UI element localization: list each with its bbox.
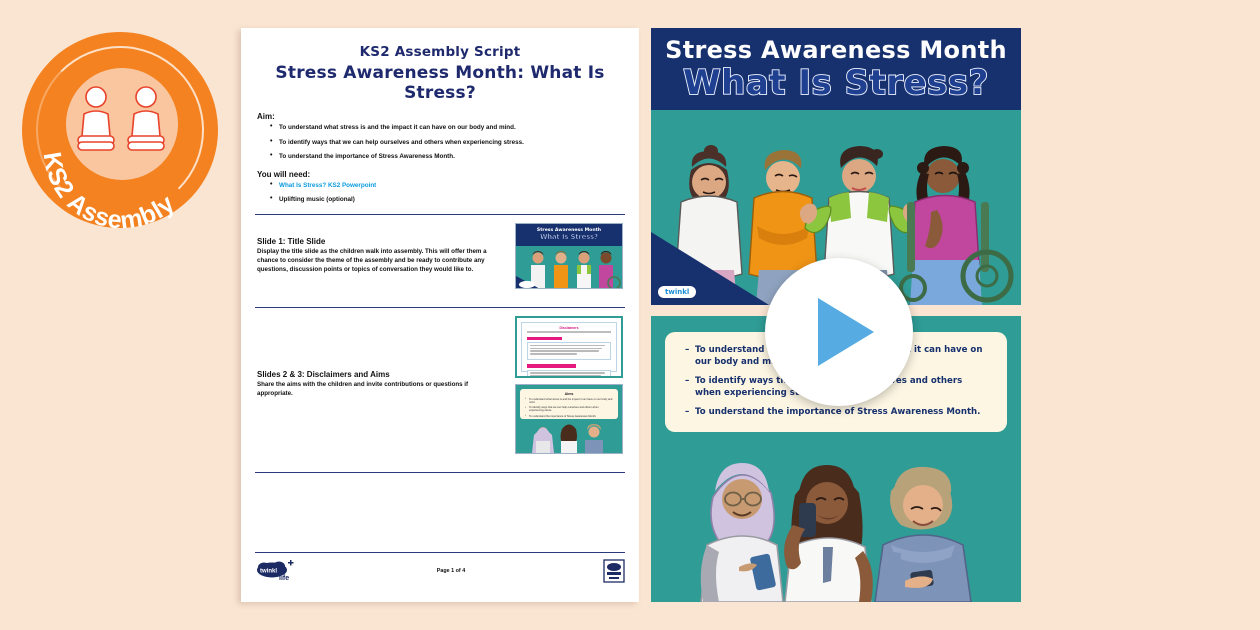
thumbnail-pink-bar <box>527 364 576 367</box>
list-item: To understand the importance of Stress A… <box>685 407 991 419</box>
badge-label-text: KS2 Assembly <box>38 150 181 228</box>
document-body: KS2 Assembly Script Stress Awareness Mon… <box>241 28 639 602</box>
twinkl-life-logo-icon: twinkl life <box>255 560 299 582</box>
thumbnail-aims-heading: Aims <box>525 392 613 396</box>
thumbnail-disclaimers-inner: Disclaimers <box>521 322 617 372</box>
thumbnail-disclaimers-slide[interactable]: Disclaimers <box>515 316 623 378</box>
slide-1-body: Display the title slide as the children … <box>257 248 505 275</box>
slide-1-thumbnails: Stress Awareness Month What Is Stress? <box>515 223 623 289</box>
assembly-script-document[interactable]: KS2 Assembly Script Stress Awareness Mon… <box>241 28 639 602</box>
divider <box>255 472 625 473</box>
thumbnail-text-box <box>527 342 611 360</box>
slides-2-3-description: Slides 2 & 3: Disclaimers and Aims Share… <box>257 370 515 399</box>
list-item: To identify ways that we can help oursel… <box>279 139 625 147</box>
list-item: To understand what stress is and the imp… <box>525 398 613 404</box>
document-footer: twinkl life Page 1 of 4 <box>255 552 625 584</box>
list-item: To understand what stress is and the imp… <box>279 124 625 132</box>
slides-2-3-title: Slides 2 & 3: Disclaimers and Aims <box>257 370 505 379</box>
play-button[interactable] <box>765 258 913 406</box>
slides-2-3-thumbnails: Disclaimers <box>515 316 623 454</box>
svg-text:twinkl: twinkl <box>260 569 277 575</box>
slide-title-line2: What Is Stress? <box>683 66 989 100</box>
slide-1-description: Slide 1: Title Slide Display the title s… <box>257 237 515 275</box>
thumbnail-children-illustration <box>516 246 622 289</box>
you-will-need-heading: You will need: <box>257 170 625 179</box>
slides-2-3-body: Share the aims with the children and inv… <box>257 381 505 399</box>
page-number: Page 1 of 4 <box>437 568 465 574</box>
document-subtitle: KS2 Assembly Script <box>255 44 625 60</box>
svg-text:KS2 Assembly: KS2 Assembly <box>38 150 181 228</box>
document-title: Stress Awareness Month: What Is Stress? <box>255 63 625 103</box>
powerpoint-link[interactable]: What Is Stress? KS2 Powerpoint <box>279 182 625 190</box>
thumbnail-title-slide[interactable]: Stress Awareness Month What Is Stress? <box>515 223 623 289</box>
thumbnail-text-box <box>527 370 611 378</box>
list-item: To identify ways that we can help oursel… <box>525 406 613 412</box>
thumbnail-disclaimers-heading: Disclaimers <box>527 326 611 330</box>
play-triangle-icon <box>818 298 874 366</box>
three-teenagers-with-phones-illustration <box>695 447 977 602</box>
list-item: To understand the importance of Stress A… <box>525 415 613 418</box>
table-row: Slides 2 & 3: Disclaimers and Aims Share… <box>255 308 625 462</box>
slide-title-band: Stress Awareness Month What Is Stress? <box>651 28 1021 110</box>
list-item: Uplifting music (optional) <box>279 196 625 204</box>
thumbnail-aims-card: Aims To understand what stress is and th… <box>520 389 618 419</box>
svg-text:life: life <box>279 575 289 582</box>
aim-list: To understand what stress is and the imp… <box>255 124 625 161</box>
aim-heading: Aim: <box>257 112 625 121</box>
twinkl-stamp-icon <box>603 559 625 583</box>
footer-divider <box>255 552 625 553</box>
table-row: Slide 1: Title Slide Display the title s… <box>255 215 625 297</box>
badge-label: KS2 Assembly <box>22 32 218 228</box>
thumbnail-title-band: Stress Awareness Month What Is Stress? <box>516 224 622 246</box>
ks2-assembly-badge: KS2 Assembly <box>22 32 218 228</box>
twinkl-watermark: twinkl <box>658 286 696 298</box>
thumbnail-title-line2: What Is Stress? <box>540 234 598 241</box>
slide-1-title: Slide 1: Title Slide <box>257 237 505 246</box>
thumbnail-teens-illustration <box>530 421 608 453</box>
you-will-need-list: What Is Stress? KS2 Powerpoint Uplifting… <box>255 182 625 204</box>
thumbnail-aims-slide[interactable]: Aims To understand what stress is and th… <box>515 384 623 454</box>
list-item: To understand the importance of Stress A… <box>279 153 625 161</box>
thumbnail-subtext-line <box>527 331 611 333</box>
thumbnail-pink-bar <box>527 337 562 340</box>
slide-title-line1: Stress Awareness Month <box>665 38 1007 62</box>
